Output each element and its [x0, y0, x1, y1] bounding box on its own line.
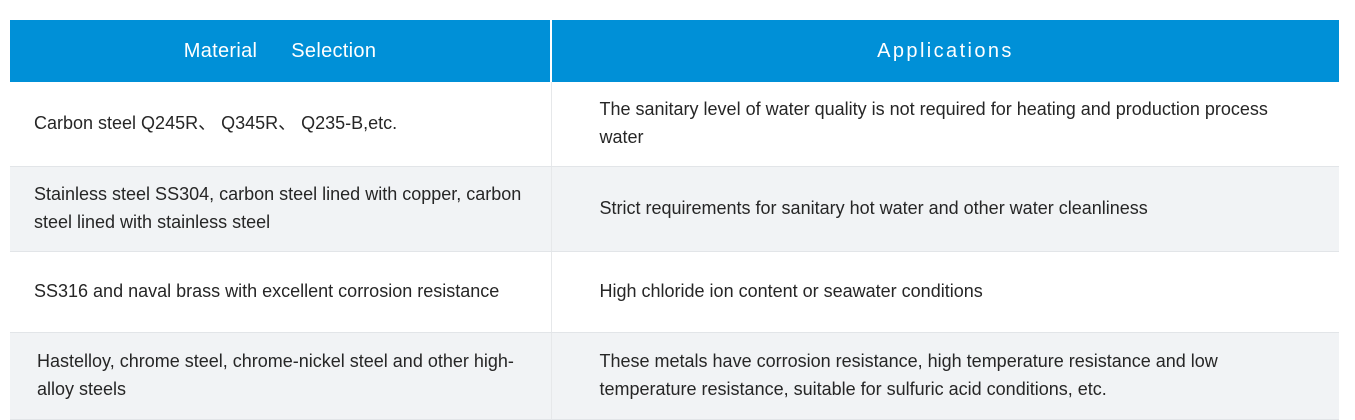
- cell-material: Stainless steel SS304, carbon steel line…: [10, 167, 551, 252]
- column-header-applications: Applications: [551, 20, 1339, 82]
- table-header: MaterialSelection Applications: [10, 20, 1339, 82]
- table-row: Carbon steel Q245R、 Q345R、 Q235-B,etc. T…: [10, 82, 1339, 167]
- table-body: Carbon steel Q245R、 Q345R、 Q235-B,etc. T…: [10, 82, 1339, 419]
- material-selection-table: MaterialSelection Applications Carbon st…: [10, 20, 1339, 420]
- cell-material: Carbon steel Q245R、 Q345R、 Q235-B,etc.: [10, 82, 551, 167]
- cell-application: High chloride ion content or seawater co…: [551, 251, 1339, 332]
- column-header-material-label: Material: [184, 40, 258, 62]
- table-row: Hastelloy, chrome steel, chrome-nickel s…: [10, 332, 1339, 419]
- cell-application: Strict requirements for sanitary hot wat…: [551, 167, 1339, 252]
- cell-material: Hastelloy, chrome steel, chrome-nickel s…: [10, 332, 551, 419]
- table-row: Stainless steel SS304, carbon steel line…: [10, 167, 1339, 252]
- cell-application: The sanitary level of water quality is n…: [551, 82, 1339, 167]
- column-header-selection-label: Selection: [291, 40, 376, 62]
- cell-application: These metals have corrosion resistance, …: [551, 332, 1339, 419]
- column-header-material-selection: MaterialSelection: [10, 20, 551, 82]
- material-selection-table-container: MaterialSelection Applications Carbon st…: [10, 20, 1339, 420]
- table-row: SS316 and naval brass with excellent cor…: [10, 251, 1339, 332]
- cell-material: SS316 and naval brass with excellent cor…: [10, 251, 551, 332]
- table-header-row: MaterialSelection Applications: [10, 20, 1339, 82]
